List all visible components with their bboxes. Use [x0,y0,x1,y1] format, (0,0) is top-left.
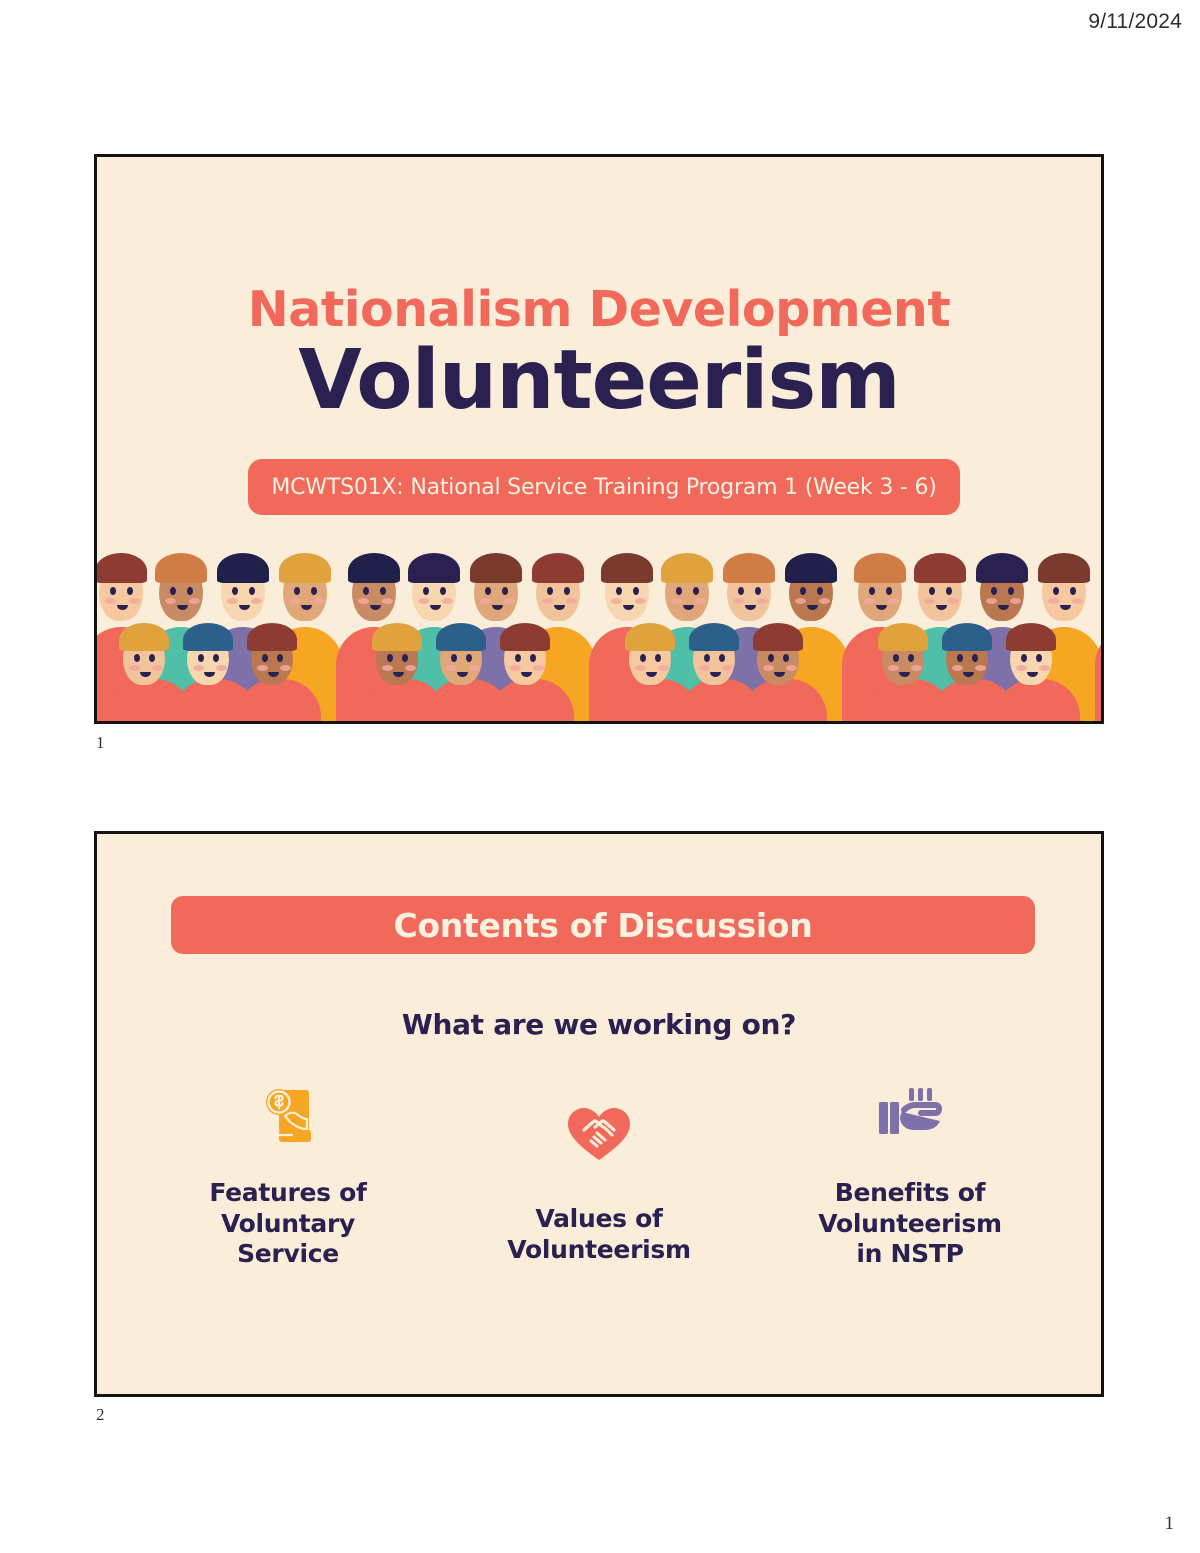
person-hair [689,623,739,651]
person-hair [155,553,207,583]
topic-values-of-volunteerism: Values of Volunteerism [454,1104,744,1265]
person-hair [942,623,992,651]
person-hair [976,553,1028,583]
slide-1-course-pill: MCWTS01X: National Service Training Prog… [248,459,960,515]
slide-1-eyebrow: Nationalism Development [97,285,1101,335]
person-hair [625,623,675,651]
contents-banner: Contents of Discussion [171,896,1035,954]
slide-1-course-label: MCWTS01X: National Service Training Prog… [271,475,936,500]
person-hair [532,553,584,583]
topic-label-line: Volunteerism [507,1235,690,1266]
footer-page-number: 1 [1165,1513,1175,1535]
person-hair [854,553,906,583]
person-hair [601,553,653,583]
person-hair [97,553,147,583]
slide-1-main-title: Volunteerism [97,339,1101,423]
slide-1-number: 1 [96,733,105,753]
topic-label: Values of Volunteerism [507,1204,690,1265]
crowd-group [1099,539,1101,721]
hand-holding-book-icon [875,1086,945,1150]
crowd-group [846,539,1099,721]
crowd-group [340,539,593,721]
person-hair [348,553,400,583]
crowd-illustration [97,539,1101,721]
slide-1-title: Nationalism Development Volunteerism MCW… [94,154,1104,724]
slide-1-title-block: Nationalism Development Volunteerism [97,285,1101,423]
person-hair [119,623,169,651]
person-hair [436,623,486,651]
topic-label-line: Values of [507,1204,690,1235]
person-hair [183,623,233,651]
topic-label-line: Features of [209,1178,366,1209]
topic-label-line: in NSTP [818,1239,1001,1270]
person-hair [247,623,297,651]
topic-label-line: Service [209,1239,366,1270]
hand-holding-money-icon [253,1086,323,1150]
person-hair [723,553,775,583]
topic-label: Features of Voluntary Service [209,1178,366,1270]
person-hair [217,553,269,583]
topic-label-line: Voluntary [209,1209,366,1240]
person-hair [785,553,837,583]
person-hair [914,553,966,583]
crowd-group [97,539,340,721]
slide-2-contents: Contents of Discussion What are we worki… [94,831,1104,1397]
person-hair [1038,553,1090,583]
topic-benefits-of-volunteerism-in-nstp: Benefits of Volunteerism in NSTP [765,1086,1055,1270]
person-hair [878,623,928,651]
heart-handshake-icon [564,1104,634,1168]
topic-label-line: Benefits of [818,1178,1001,1209]
slide-2-number: 2 [96,1405,105,1425]
person-hair [470,553,522,583]
contents-banner-label: Contents of Discussion [393,906,812,945]
contents-topic-list: Features of Voluntary Service Values of … [143,1086,1055,1270]
topic-label: Benefits of Volunteerism in NSTP [818,1178,1001,1270]
topic-features-of-voluntary-service: Features of Voluntary Service [143,1086,433,1270]
person-hair [372,623,422,651]
person-hair [279,553,331,583]
person-hair [753,623,803,651]
crowd-group [593,539,846,721]
person-hair [500,623,550,651]
person-hair [408,553,460,583]
topic-label-line: Volunteerism [818,1209,1001,1240]
contents-subtitle: What are we working on? [97,1008,1101,1041]
document-date: 9/11/2024 [1088,10,1182,34]
person-hair [1006,623,1056,651]
person-hair [661,553,713,583]
